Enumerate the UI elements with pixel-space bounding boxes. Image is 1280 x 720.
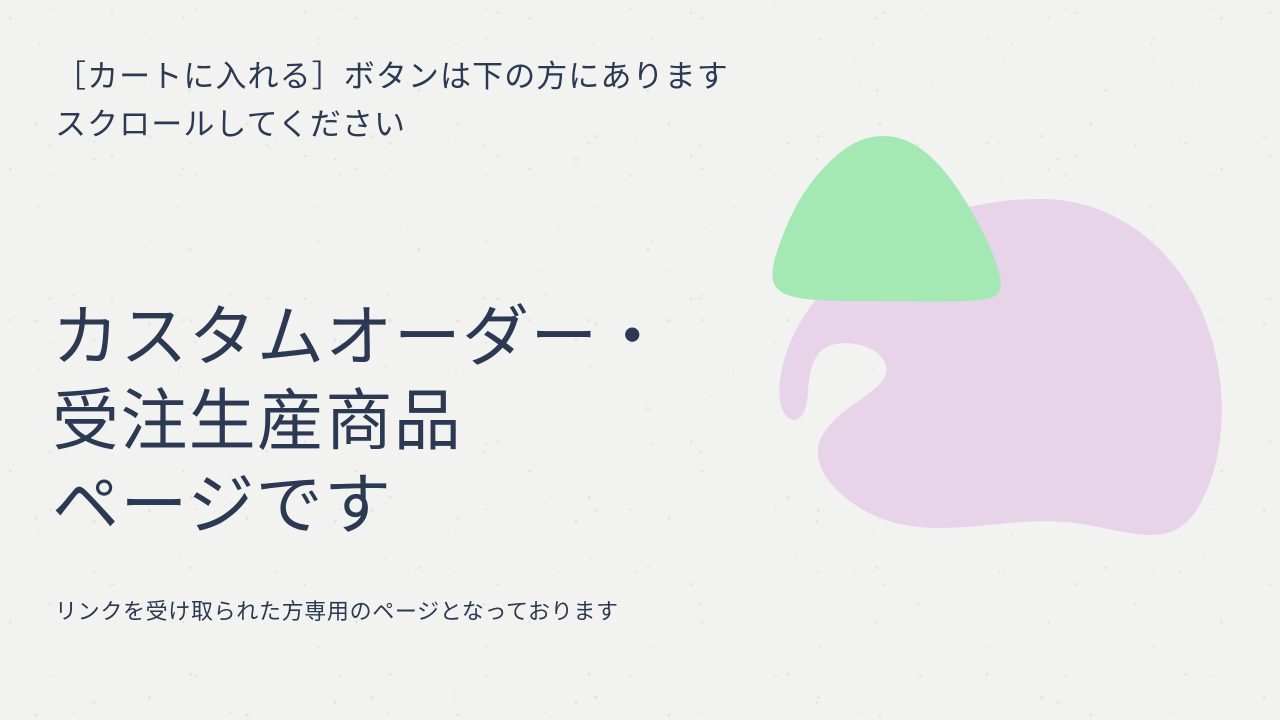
green-blob-shape: [772, 136, 1000, 301]
page-canvas: ［カートに入れる］ボタンは下の方にあります スクロールしてください カスタムオー…: [0, 0, 1280, 720]
scroll-notice: ［カートに入れる］ボタンは下の方にあります スクロールしてください: [55, 53, 729, 149]
pink-blob-shape: [779, 199, 1221, 535]
access-note: リンクを受け取られた方専用のページとなっております: [55, 595, 619, 628]
page-headline: カスタムオーダー・ 受注生産商品 ページです: [52, 296, 667, 547]
